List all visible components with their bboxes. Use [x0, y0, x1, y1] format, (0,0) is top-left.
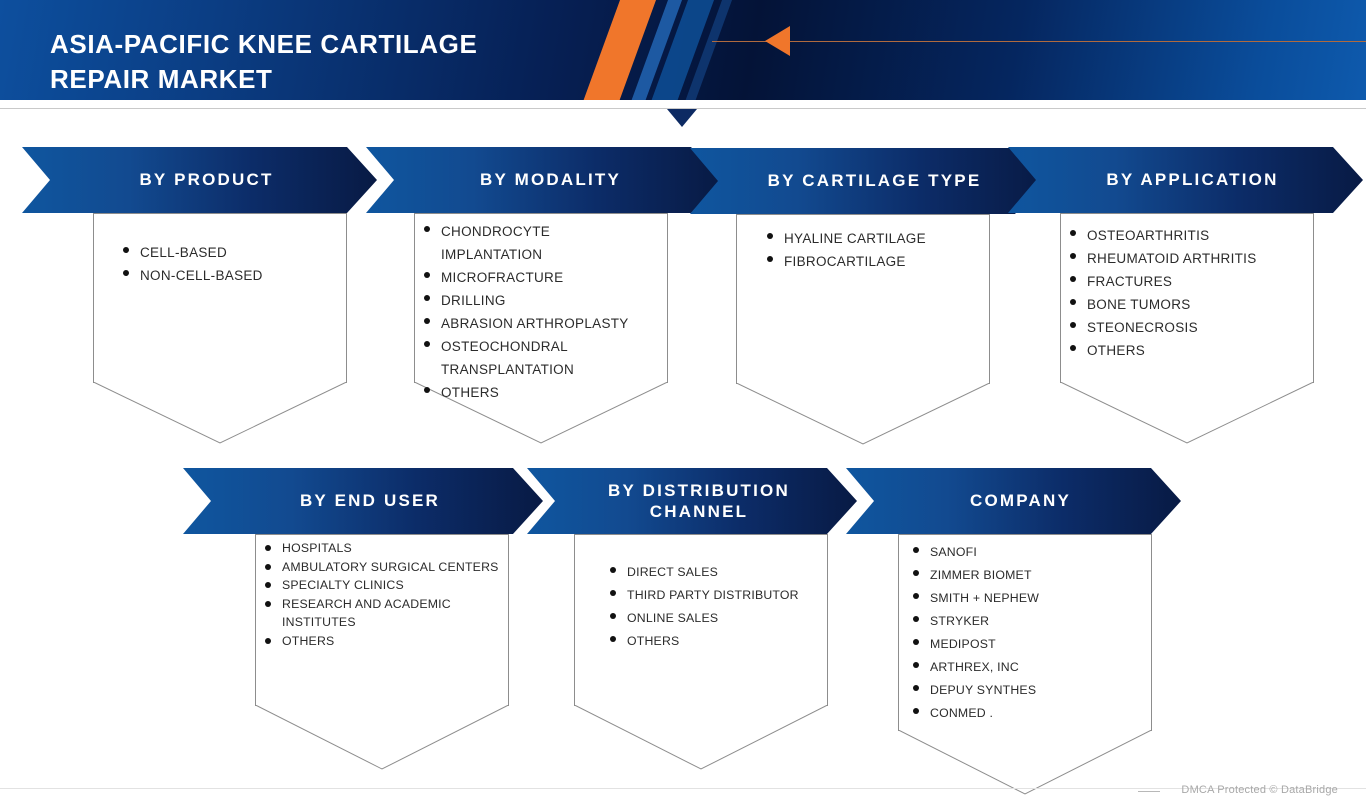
list-item: OTHERS: [424, 381, 664, 404]
segment-list-by-product: CELL-BASED NON-CELL-BASED: [123, 241, 333, 287]
list-item: SMITH + NEPHEW: [913, 587, 1138, 610]
segment-list-by-cartilage-type: HYALINE CARTILAGE FIBROCARTILAGE: [767, 227, 982, 273]
list-item: MEDIPOST: [913, 633, 1138, 656]
segment-header-label: BY MODALITY: [466, 169, 621, 190]
segment-list-by-application: OSTEOARTHRITIS RHEUMATOID ARTHRITIS FRAC…: [1070, 224, 1310, 362]
segment-header-by-product[interactable]: BY PRODUCT: [22, 147, 377, 213]
list-item: OSTEOCHONDRAL TRANSPLANTATION: [424, 335, 664, 381]
segment-header-by-application[interactable]: BY APPLICATION: [1008, 147, 1363, 213]
list-item: DIRECT SALES: [610, 561, 820, 584]
list-item: OSTEOARTHRITIS: [1070, 224, 1310, 247]
list-item: NON-CELL-BASED: [123, 264, 333, 287]
list-item: AMBULATORY SURGICAL CENTERS: [265, 558, 511, 577]
footer-dash-decoration: [1138, 791, 1160, 792]
list-item: ZIMMER BIOMET: [913, 564, 1138, 587]
list-item: FRACTURES: [1070, 270, 1310, 293]
segment-header-by-distribution-channel[interactable]: BY DISTRIBUTION CHANNEL: [527, 468, 857, 534]
list-item: DEPUY SYNTHES: [913, 679, 1138, 702]
list-item: RHEUMATOID ARTHRITIS: [1070, 247, 1310, 270]
segment-header-by-cartilage-type[interactable]: BY CARTILAGE TYPE: [690, 148, 1045, 214]
segment-box-point-company: [898, 730, 1152, 795]
list-item: ARTHREX, INC: [913, 656, 1138, 679]
segment-box-point-by-end-user: [255, 705, 509, 770]
segment-list-by-distribution-channel: DIRECT SALES THIRD PARTY DISTRIBUTOR ONL…: [610, 561, 820, 653]
list-item: OTHERS: [265, 632, 511, 651]
segment-header-label: BY APPLICATION: [1092, 169, 1278, 190]
segment-header-company[interactable]: COMPANY: [846, 468, 1181, 534]
list-item: STEONECROSIS: [1070, 316, 1310, 339]
segment-header-by-modality[interactable]: BY MODALITY: [366, 147, 721, 213]
list-item: SANOFI: [913, 541, 1138, 564]
segment-box-point-by-application: [1060, 382, 1314, 444]
list-item: OTHERS: [1070, 339, 1310, 362]
list-item: CONMED .: [913, 702, 1138, 725]
segment-box-point-by-cartilage-type: [736, 383, 990, 445]
list-item: THIRD PARTY DISTRIBUTOR: [610, 584, 820, 607]
segment-box-point-by-product: [93, 382, 347, 444]
list-item: HYALINE CARTILAGE: [767, 227, 982, 250]
segment-header-label: BY END USER: [286, 490, 440, 511]
segment-list-company: SANOFI ZIMMER BIOMET SMITH + NEPHEW STRY…: [913, 541, 1138, 725]
segment-header-label: BY CARTILAGE TYPE: [754, 170, 982, 191]
list-item: ABRASION ARTHROPLASTY: [424, 312, 664, 335]
list-item: MICROFRACTURE: [424, 266, 664, 289]
chevron-down-icon: [667, 109, 697, 127]
footer-divider: [0, 788, 1366, 789]
segment-list-by-end-user: HOSPITALS AMBULATORY SURGICAL CENTERS SP…: [265, 539, 511, 650]
list-item: CELL-BASED: [123, 241, 333, 264]
segment-header-label: BY DISTRIBUTION CHANNEL: [594, 480, 790, 523]
header-banner: ASIA-PACIFIC KNEE CARTILAGE REPAIR MARKE…: [0, 0, 1366, 100]
left-arrow-icon: [765, 26, 790, 56]
segment-header-label: BY PRODUCT: [125, 169, 273, 190]
copyright-notice: DMCA Protected © DataBridge: [1181, 784, 1338, 796]
segment-header-label: COMPANY: [956, 490, 1071, 511]
list-item: ONLINE SALES: [610, 607, 820, 630]
list-item: OTHERS: [610, 630, 820, 653]
list-item: DRILLING: [424, 289, 664, 312]
segment-list-by-modality: CHONDROCYTE IMPLANTATION MICROFRACTURE D…: [424, 220, 664, 404]
list-item: STRYKER: [913, 610, 1138, 633]
list-item: BONE TUMORS: [1070, 293, 1310, 316]
list-item: SPECIALTY CLINICS: [265, 576, 511, 595]
list-item: FIBROCARTILAGE: [767, 250, 982, 273]
segment-header-by-end-user[interactable]: BY END USER: [183, 468, 543, 534]
page-title: ASIA-PACIFIC KNEE CARTILAGE REPAIR MARKE…: [50, 27, 610, 96]
list-item: CHONDROCYTE IMPLANTATION: [424, 220, 664, 266]
segment-box-point-by-distribution-channel: [574, 705, 828, 770]
segment-box-by-product: [93, 213, 347, 383]
list-item: HOSPITALS: [265, 539, 511, 558]
list-item: RESEARCH AND ACADEMIC INSTITUTES: [265, 595, 511, 632]
arrow-line-decoration: [712, 41, 1366, 42]
